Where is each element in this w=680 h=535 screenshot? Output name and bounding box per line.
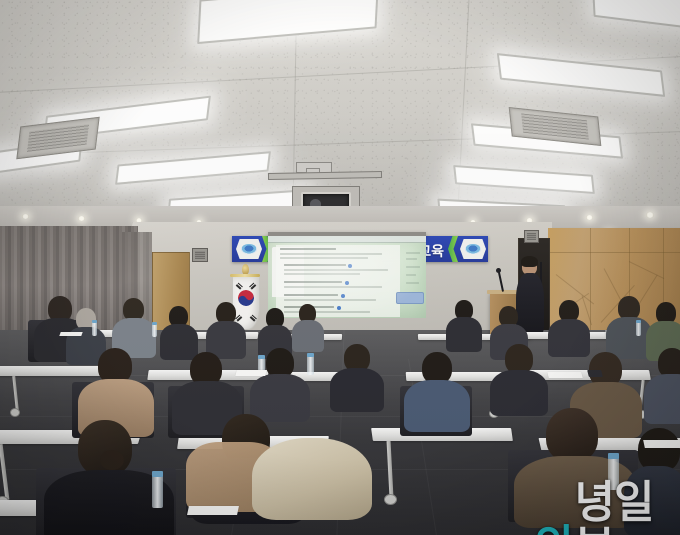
attendee-hair-bun bbox=[100, 450, 124, 470]
banner-logo-left bbox=[236, 239, 262, 259]
attendee bbox=[292, 304, 324, 350]
attendee-head bbox=[546, 408, 598, 462]
water-bottle bbox=[92, 322, 97, 336]
trigram-gon-icon bbox=[249, 315, 257, 323]
presenter-hair bbox=[521, 256, 538, 267]
bottle-cap bbox=[608, 453, 619, 459]
chevron-accent-right bbox=[448, 236, 458, 262]
publisher-watermark: 안 녕일보 bbox=[535, 481, 680, 535]
bottle-cap bbox=[152, 322, 157, 325]
water-bottle bbox=[636, 322, 641, 336]
organization-emblem-icon bbox=[241, 244, 257, 254]
water-bottle bbox=[307, 356, 314, 375]
table-caster bbox=[384, 494, 397, 505]
attendee bbox=[490, 344, 548, 414]
handout-paper bbox=[547, 372, 582, 378]
handout-paper bbox=[643, 440, 680, 448]
attendee bbox=[644, 348, 680, 422]
handout-paper bbox=[235, 370, 266, 376]
watermark-teal-char: 안 bbox=[535, 525, 574, 535]
attendee bbox=[206, 302, 246, 356]
attendee bbox=[446, 300, 482, 350]
trigram-gam-icon bbox=[249, 283, 257, 291]
wall-speaker-right bbox=[524, 230, 539, 243]
attendee-body bbox=[330, 368, 384, 412]
wood-panel-seam bbox=[548, 252, 680, 253]
water-bottle bbox=[152, 324, 157, 337]
draped-coat-beige bbox=[252, 438, 372, 520]
attendee bbox=[330, 344, 384, 410]
handout-paper bbox=[187, 506, 239, 515]
trigram-geon-icon bbox=[235, 283, 243, 291]
attendee-body bbox=[404, 380, 470, 432]
smartphone[interactable] bbox=[587, 370, 603, 377]
downlight bbox=[78, 216, 85, 221]
bottle-cap bbox=[258, 355, 265, 359]
attendee bbox=[160, 306, 198, 358]
water-bottle bbox=[152, 476, 163, 508]
table-caster bbox=[10, 408, 20, 417]
attendee bbox=[548, 300, 590, 356]
attendee-body bbox=[644, 374, 680, 424]
flag-fringe bbox=[230, 274, 260, 277]
bottle-cap bbox=[636, 320, 641, 323]
bottle-cap bbox=[92, 320, 97, 323]
handout-paper bbox=[59, 332, 82, 336]
watermark-white-chars: 녕일보 bbox=[574, 481, 680, 535]
organization-emblem-icon bbox=[465, 244, 481, 254]
wall-speaker-left bbox=[192, 248, 208, 262]
downlight bbox=[22, 214, 29, 219]
seminar-room-photo: 202 교육 bbox=[0, 0, 680, 535]
attendee-body bbox=[446, 317, 482, 352]
downlight bbox=[646, 212, 654, 218]
downlight bbox=[586, 215, 593, 220]
attendee bbox=[404, 352, 470, 430]
bottle-cap bbox=[152, 471, 163, 477]
wood-facet bbox=[629, 261, 665, 279]
banner-logo-right bbox=[460, 239, 486, 259]
bottle-cap bbox=[307, 353, 314, 357]
microphone-icon bbox=[496, 268, 501, 273]
